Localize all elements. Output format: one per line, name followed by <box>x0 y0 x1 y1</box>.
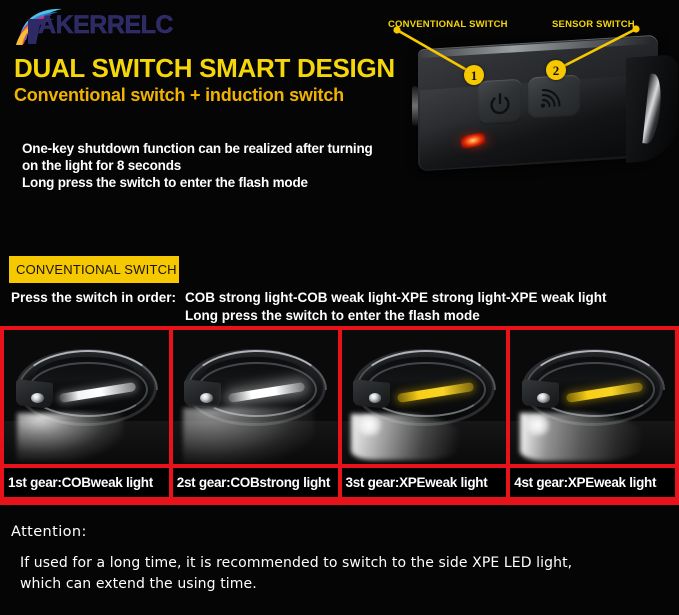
intro-line-1: One-key shutdown function can be realize… <box>22 140 372 157</box>
page-title: DUAL SWITCH SMART DESIGN <box>14 55 395 81</box>
gear-photo-3 <box>342 330 507 464</box>
floor-glow-3 <box>342 421 507 464</box>
gear-caption-3: 3st gear:XPEweak light <box>342 468 507 497</box>
conventional-switch-badge-label: CONVENTIONAL SWITCH <box>16 262 177 277</box>
floor-glow-1 <box>4 421 169 464</box>
gear-cell-2: 2st gear:COBstrong light <box>173 330 338 501</box>
intro-line-2: on the light for 8 seconds <box>22 157 372 174</box>
callout-number-2: 2 <box>546 60 566 80</box>
callout-number-1: 1 <box>464 65 484 85</box>
gear-grid: 1st gear:COBweak light 2st gear:COBstron… <box>0 326 679 505</box>
gear-caption-4: 4st gear:XPEweak light <box>510 468 675 497</box>
press-order-flash-note: Long press the switch to enter the flash… <box>185 308 480 323</box>
gear-photo-1 <box>4 330 169 464</box>
press-order-label: Press the switch in order: <box>11 290 176 305</box>
gear-caption-1: 1st gear:COBweak light <box>4 468 169 497</box>
logo-wordmark: AKERRELC <box>38 13 173 38</box>
floor-glow-2 <box>173 421 338 464</box>
intro-text: One-key shutdown function can be realize… <box>22 140 372 191</box>
brand-logo: AKERRELC <box>14 6 194 46</box>
xpe-lens-1 <box>31 393 44 403</box>
gear-photo-4 <box>510 330 675 464</box>
attention-body: If used for a long time, it is recommend… <box>20 553 670 595</box>
gear-cell-4: 4st gear:XPEweak light <box>510 330 675 501</box>
callout-label-sensor: SENSOR SWITCH <box>552 19 635 30</box>
gear-photo-2 <box>173 330 338 464</box>
press-order-sequence: COB strong light-COB weak light-XPE stro… <box>185 290 607 305</box>
callout-label-conventional: CONVENTIONAL SWITCH <box>388 19 508 30</box>
callout-leaders <box>398 24 679 104</box>
infographic-page: AKERRELC DUAL SWITCH SMART DESIGN Conven… <box>0 0 679 615</box>
intro-line-3: Long press the switch to enter the flash… <box>22 174 372 191</box>
attention-title: Attention: <box>11 524 87 540</box>
xpe-lens-2 <box>200 393 213 403</box>
gear-caption-2: 2st gear:COBstrong light <box>173 468 338 497</box>
floor-glow-4 <box>510 421 675 464</box>
gear-cell-1: 1st gear:COBweak light <box>4 330 169 501</box>
gear-cell-3: 3st gear:XPEweak light <box>342 330 507 501</box>
attention-line-2: which can extend the using time. <box>20 574 670 595</box>
attention-line-1: If used for a long time, it is recommend… <box>20 553 670 574</box>
page-subtitle: Conventional switch + induction switch <box>14 86 344 104</box>
conventional-switch-badge: CONVENTIONAL SWITCH <box>9 256 179 283</box>
